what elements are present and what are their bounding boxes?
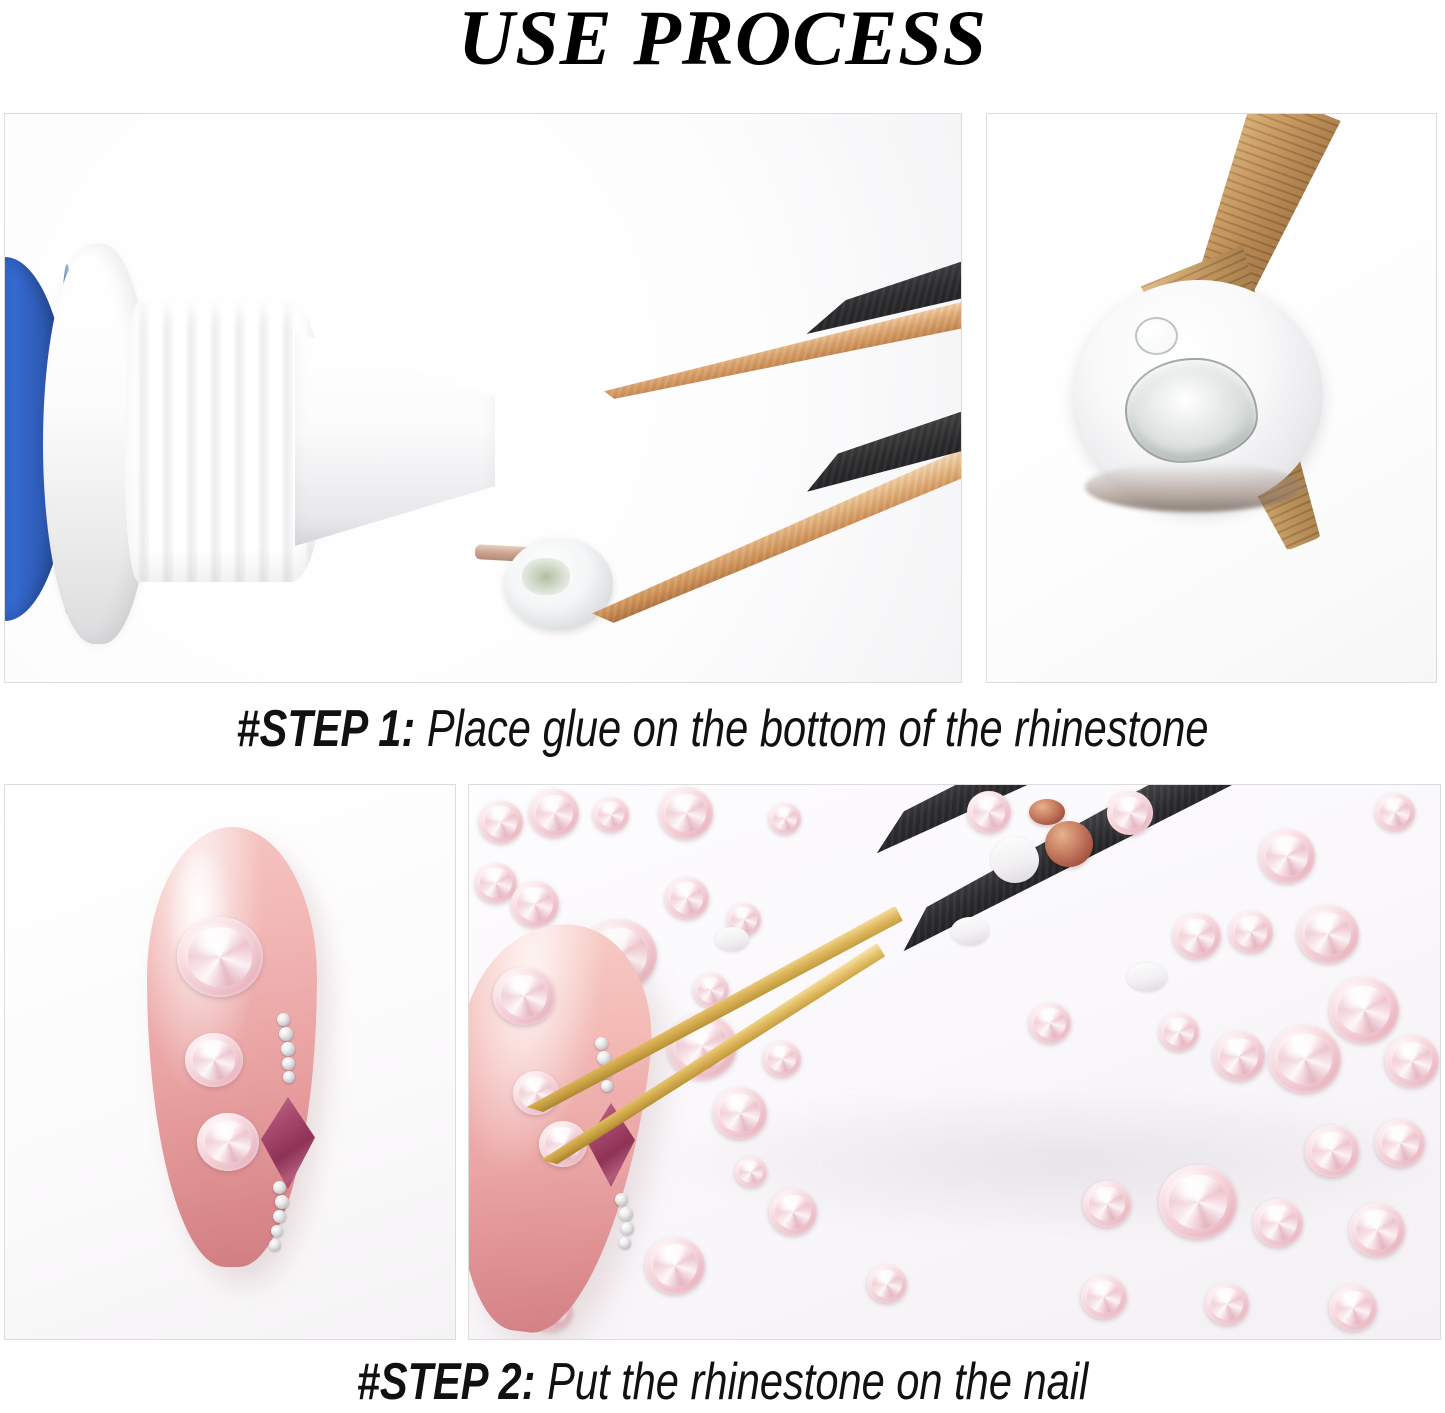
scatter-rhinestone [593, 797, 629, 832]
scatter-rhinestone [479, 801, 523, 843]
step-1-photo-row [4, 113, 1441, 683]
glue-bubble [1135, 317, 1179, 356]
scatter-rhinestone [1375, 793, 1415, 831]
scatter-rhinestone-large [1269, 1025, 1341, 1093]
scatter-rhinestone [511, 881, 559, 927]
scatter-rhinestone [665, 877, 709, 919]
caviar-bead [619, 1237, 631, 1249]
glue-bottle-rhinestone-photo [4, 113, 962, 683]
decorated-nail-photo [4, 784, 456, 1340]
caviar-bead [283, 1071, 295, 1083]
scatter-rhinestone [1253, 1199, 1303, 1247]
scatter-rhinestone [769, 803, 801, 834]
rhinestone-rim [1085, 462, 1303, 513]
rhinestone-flat-back-up [991, 837, 1039, 883]
scatter-rhinestone [645, 1237, 705, 1294]
scatter-rhinestone-dark [1029, 799, 1065, 825]
scatter-rhinestone [1107, 791, 1153, 835]
scatter-rhinestone [475, 863, 517, 903]
scatter-rhinestone [735, 1157, 767, 1187]
step-1-label: #STEP 1: [236, 700, 415, 758]
clear-rhinestone [505, 538, 613, 630]
scatter-rhinestone [1083, 1181, 1131, 1227]
caviar-bead [619, 1207, 633, 1221]
rhinestones-scatter-nail-photo [468, 784, 1441, 1340]
scatter-rhinestone [1229, 911, 1273, 953]
caviar-bead [281, 1042, 295, 1056]
scatter-rhinestone [1259, 829, 1315, 883]
rhinestone-flat-back-up [715, 927, 749, 951]
caviar-bead [282, 1057, 295, 1070]
scatter-rhinestone [1297, 905, 1359, 963]
scatter-rhinestone [529, 789, 579, 837]
caviar-bead [601, 1080, 613, 1092]
caviar-bead [615, 1193, 628, 1206]
scatter-rhinestone-dark [1045, 821, 1093, 867]
scatter-rhinestone [1159, 1013, 1199, 1051]
scatter-rhinestone-large [1329, 977, 1399, 1043]
scatter-rhinestone [1205, 1283, 1249, 1325]
rhinestone-flat-back-up [951, 917, 989, 945]
scatter-rhinestone [1375, 1119, 1425, 1167]
scatter-rhinestone [713, 1087, 767, 1139]
scatter-rhinestone [769, 1189, 817, 1235]
caviar-bead [275, 1195, 289, 1209]
caviar-bead [273, 1181, 286, 1194]
nail-rhinestone-medium [185, 1033, 243, 1087]
nail-rhinestone-large [493, 967, 555, 1025]
step-1-text: Place glue on the bottom of the rhinesto… [415, 700, 1208, 758]
step-2-caption: #STEP 2: Put the rhinestone on the nail [145, 1351, 1301, 1413]
step-1-caption: #STEP 1: Place glue on the bottom of the… [145, 698, 1301, 760]
nail-rhinestone-small [197, 1113, 259, 1171]
rhinestone-flat-back [1075, 280, 1323, 510]
caviar-bead [269, 1239, 281, 1251]
step-2-photo-row [4, 784, 1441, 1340]
scatter-rhinestone [967, 791, 1011, 833]
scatter-rhinestone [1213, 1031, 1265, 1081]
scatter-rhinestone [867, 1265, 907, 1303]
scatter-rhinestone [1349, 1203, 1405, 1257]
scatter-rhinestone [763, 1041, 801, 1077]
step-2-label: #STEP 2: [357, 1353, 536, 1411]
caviar-bead [273, 1210, 286, 1223]
caviar-bead [277, 1013, 290, 1026]
scatter-rhinestone [1385, 1035, 1439, 1087]
scatter-rhinestone-large [1159, 1165, 1237, 1239]
rhinestone-flat-back-up [1127, 963, 1167, 991]
glue-drop-macro-photo [986, 113, 1437, 683]
scatter-rhinestone [1329, 1285, 1377, 1331]
glue-drop [1125, 358, 1258, 463]
scatter-rhinestone [1173, 913, 1221, 959]
caviar-bead [595, 1037, 608, 1050]
step-2-text: Put the rhinestone on the nail [536, 1353, 1089, 1411]
nail-rhinestone-large [177, 917, 263, 997]
scatter-rhinestone [659, 787, 713, 839]
scatter-rhinestone [1029, 1003, 1071, 1043]
scatter-rhinestone [1081, 1275, 1127, 1319]
caviar-bead [621, 1222, 634, 1235]
caviar-bead [279, 1027, 293, 1041]
scatter-rhinestone [1305, 1125, 1359, 1177]
caviar-bead [271, 1225, 283, 1237]
page-title: USE PROCESS [0, 0, 1445, 78]
